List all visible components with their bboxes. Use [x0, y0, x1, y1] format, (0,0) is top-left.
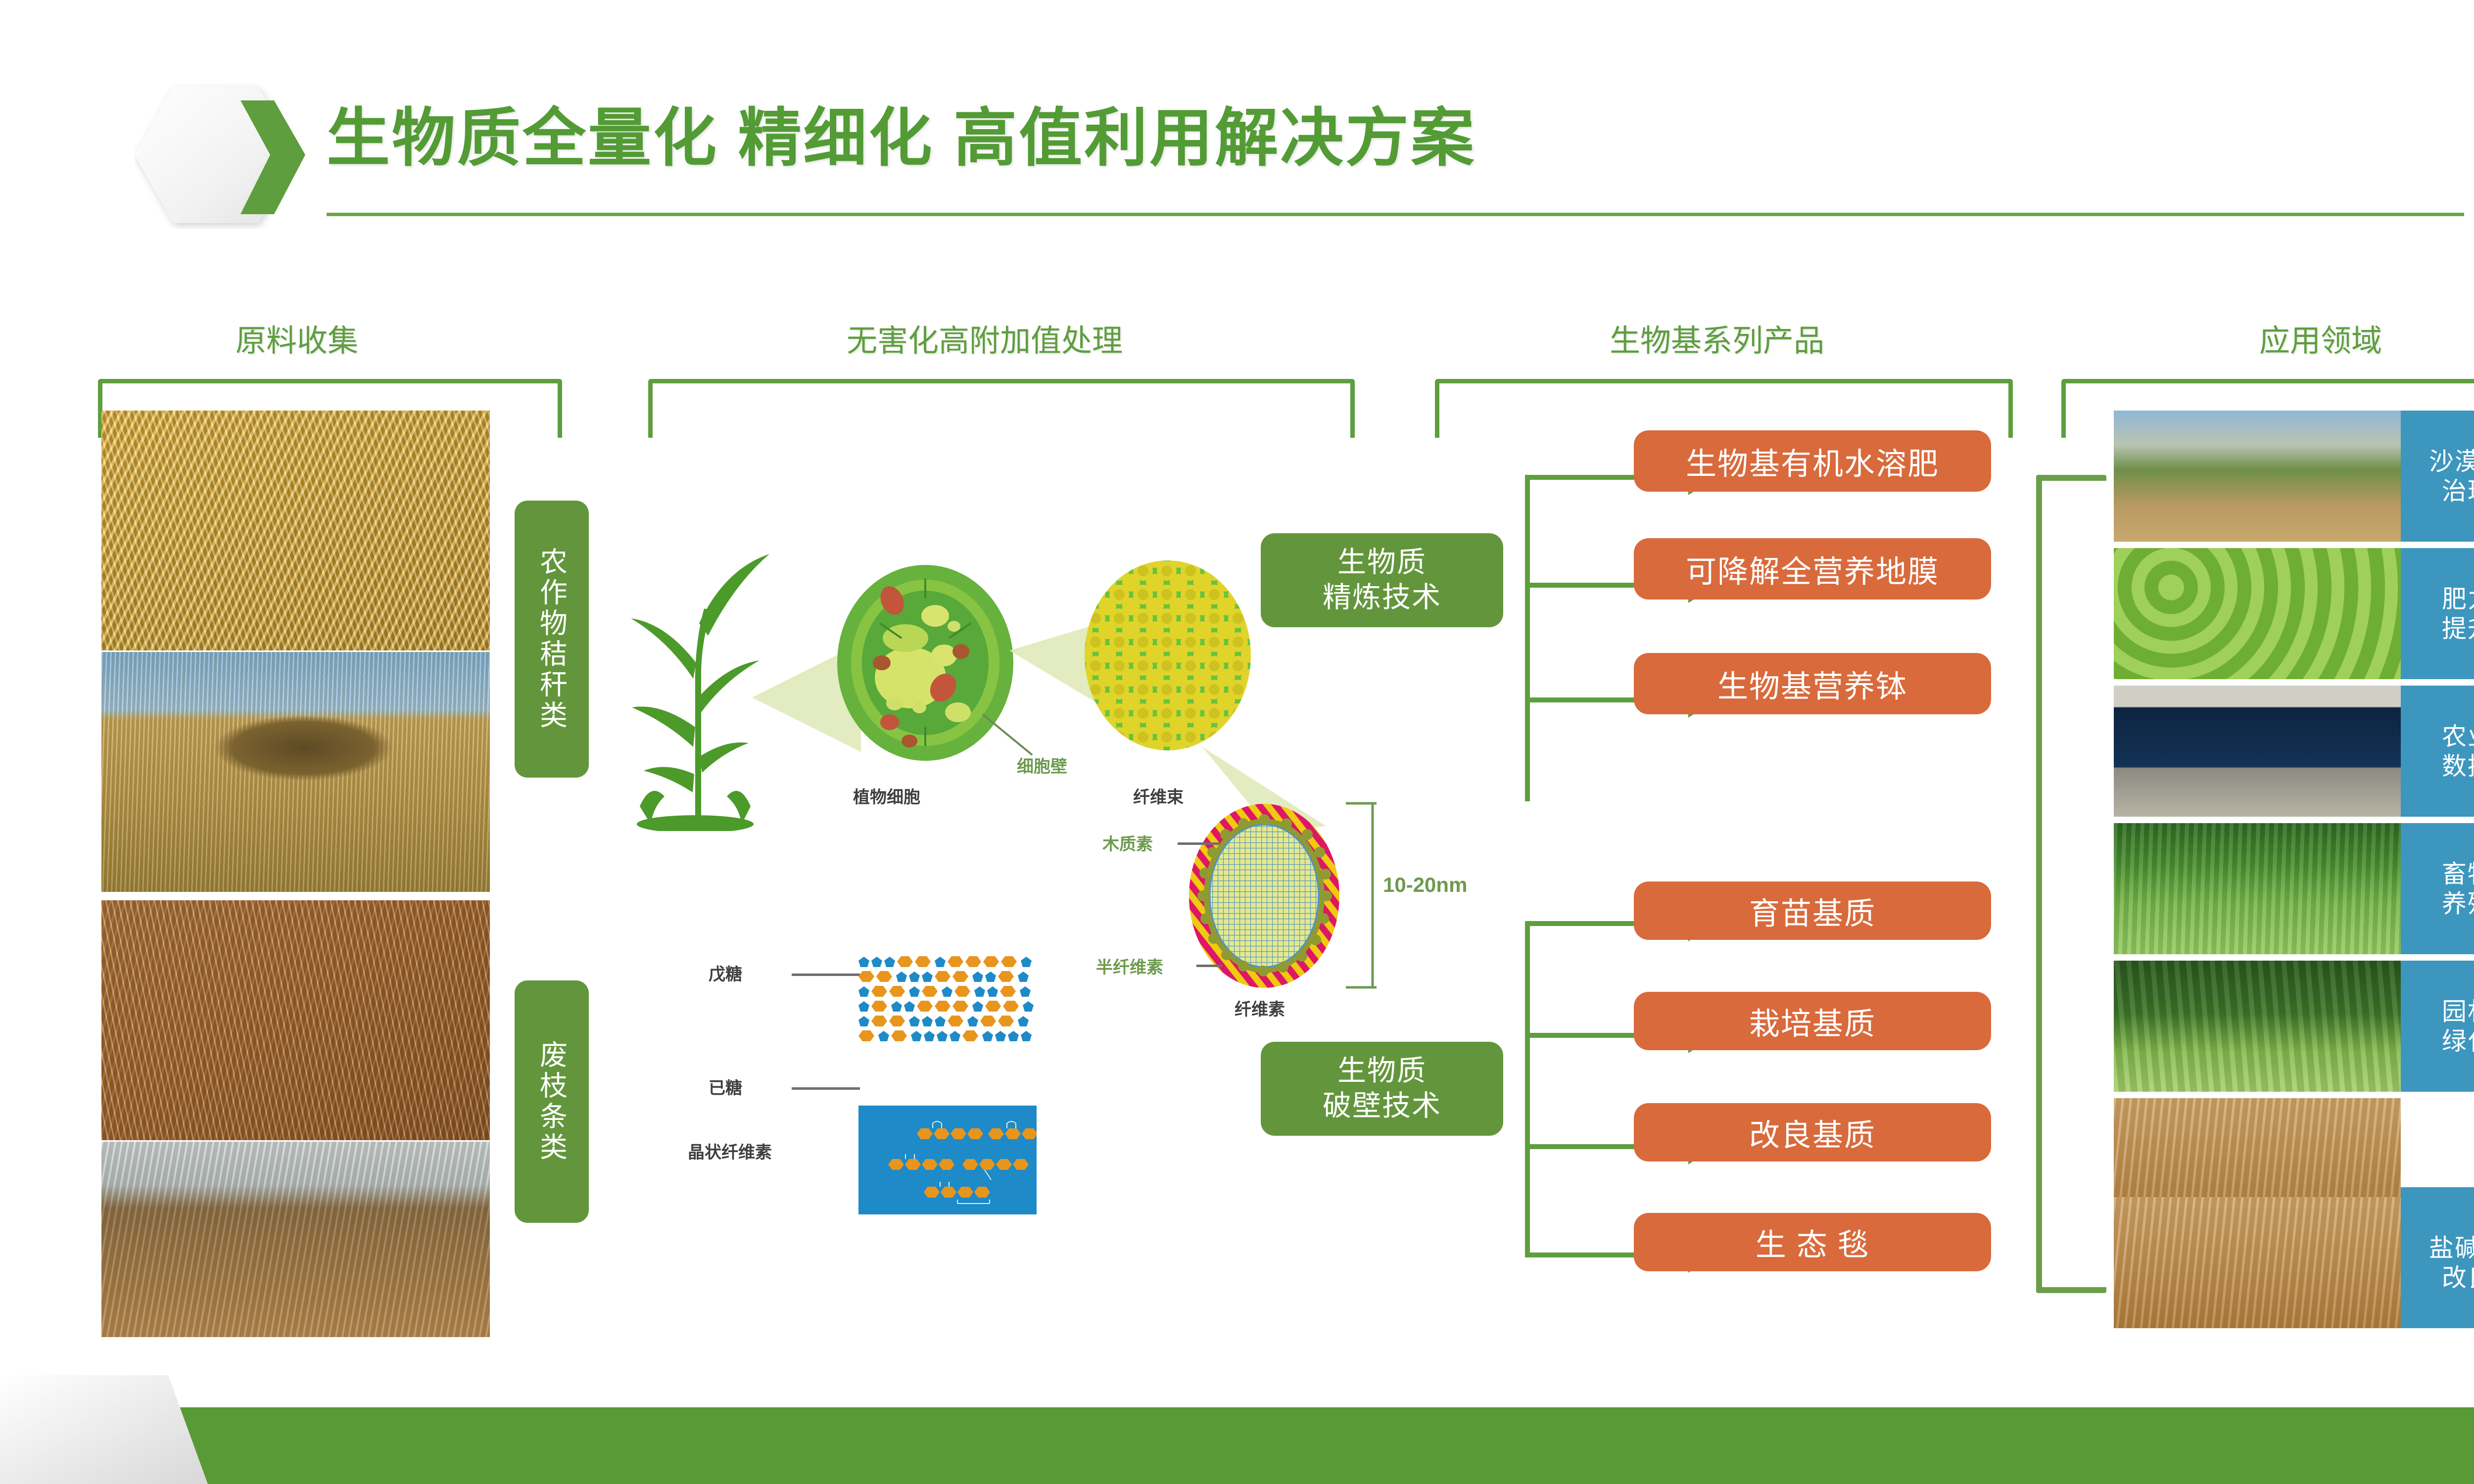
section-title-processing: 无害化高附加值处理 [618, 316, 1351, 360]
fiber-bundle-illustration [1084, 559, 1252, 752]
photo-landscape-greening [2114, 961, 2401, 1092]
app-greening-line1: 园林 [2442, 998, 2474, 1025]
label-pentose: 戊糖 [709, 961, 742, 985]
label-hemicellulose: 半纤维素 [1096, 954, 1163, 978]
feedstock-label-waste-branches: 废枝条类 [515, 980, 589, 1223]
section-title-products: 生物基系列产品 [1420, 316, 2014, 360]
connector-trunk-cellwall [1525, 921, 1530, 1257]
photo-desert-control [2114, 411, 2401, 542]
app-desert-line2: 治理 [2442, 477, 2474, 505]
product-pill-improvement-substrate[interactable]: 改良基质 [1634, 1103, 1991, 1161]
label-plant-cell: 植物细胞 [853, 784, 920, 808]
sugar-chain-diagram [858, 955, 1086, 1098]
app-saline-main-line2: 改良 [2442, 1264, 2474, 1292]
crystalline-cellulose-diagram [858, 1106, 1037, 1214]
product-pill-degradable-mulch-film[interactable]: 可降解全营养地膜 [1634, 538, 1991, 600]
application-label-saline-main[interactable]: 盐碱地 改良 [2401, 1197, 2474, 1328]
hemicellulose-bead-ring [1185, 799, 1353, 992]
app-livestock-line1: 畜牧 [2442, 860, 2474, 888]
product-pill-cultivation-substrate[interactable]: 栽培基质 [1634, 992, 1991, 1050]
hexose-leader-line [792, 1087, 860, 1090]
hemicellulose-leader-line [1196, 965, 1222, 967]
bracket-processing [648, 379, 1355, 438]
footer-bar [0, 1407, 2474, 1484]
cell-wall-leader-line [981, 712, 1035, 757]
application-group-bracket [2036, 475, 2106, 1293]
photo-cabbage-field [2114, 548, 2401, 679]
photo-agri-data-center [2114, 686, 2401, 817]
app-livestock-line2: 养殖 [2442, 890, 2474, 918]
tech-refining-line2: 精炼技术 [1323, 580, 1441, 615]
app-data-line1: 农业 [2442, 723, 2474, 750]
application-label-desert-control[interactable]: 沙漠化 治理 [2401, 411, 2474, 542]
app-data-line2: 数据 [2442, 752, 2474, 780]
page-header: 生物质全量化 精细化 高值利用解决方案 [0, 0, 2474, 232]
hexagon-chevron-logo-icon [135, 81, 305, 229]
photo-corn-straw-field [101, 411, 490, 650]
connector-trunk-refining [1525, 475, 1530, 801]
product-pill-water-soluble-fertilizer[interactable]: 生物基有机水溶肥 [1634, 430, 1991, 492]
label-hexose: 已糖 [709, 1074, 742, 1099]
application-label-fertility[interactable]: 肥力 提升 [2401, 548, 2474, 679]
page-title: 生物质全量化 精细化 高值利用解决方案 [327, 87, 1476, 178]
photo-orchard-pruned-branches [101, 1142, 490, 1337]
label-fiber-dimension: 10-20nm [1383, 873, 1467, 897]
label-fiber-bundle: 纤维束 [1133, 784, 1184, 808]
application-label-agri-data[interactable]: 农业 数据 [2401, 686, 2474, 817]
photo-sheep-grazing [2114, 823, 2401, 954]
tech-cellwall-line2: 破壁技术 [1323, 1089, 1441, 1124]
bracket-products [1435, 379, 2013, 438]
product-pill-ecological-blanket[interactable]: 生 态 毯 [1634, 1213, 1991, 1271]
label-lignin: 木质素 [1102, 831, 1153, 855]
tech-pill-refining[interactable]: 生物质 精炼技术 [1261, 533, 1503, 627]
app-greening-line2: 绿化 [2442, 1027, 2474, 1055]
tech-pill-cellwall-breaking[interactable]: 生物质 破壁技术 [1261, 1042, 1503, 1136]
app-fertility-line1: 肥力 [2442, 585, 2474, 613]
application-label-greening[interactable]: 园林 绿化 [2401, 961, 2474, 1092]
pentose-leader-line [792, 974, 860, 976]
section-title-application: 应用领域 [2103, 316, 2474, 360]
app-desert-line1: 沙漠化 [2429, 448, 2474, 475]
product-pill-nutrient-pot[interactable]: 生物基营养钵 [1634, 653, 1991, 714]
application-label-livestock[interactable]: 畜牧 养殖 [2401, 823, 2474, 954]
tech-cellwall-line1: 生物质 [1337, 1054, 1427, 1089]
label-cellulose: 纤维素 [1235, 996, 1285, 1020]
tech-refining-line1: 生物质 [1337, 545, 1427, 580]
footer-wedge-decoration [0, 1316, 208, 1484]
lignin-leader-line [1178, 842, 1220, 845]
label-crystalline-cellulose: 晶状纤维素 [688, 1139, 772, 1163]
title-divider [327, 213, 2464, 216]
photo-dry-branches [101, 900, 490, 1140]
app-fertility-line2: 提升 [2442, 615, 2474, 643]
photo-straw-bale-field [101, 652, 490, 892]
app-saline-main-line1: 盐碱地 [2429, 1234, 2474, 1262]
feedstock-label-crop-straw: 农作物秸秆类 [515, 501, 589, 778]
section-title-collection: 原料收集 [89, 316, 505, 360]
photo-saline-land-lower [2114, 1197, 2401, 1328]
product-pill-seedling-substrate[interactable]: 育苗基质 [1634, 881, 1991, 940]
dimension-bracket [1346, 801, 1380, 989]
